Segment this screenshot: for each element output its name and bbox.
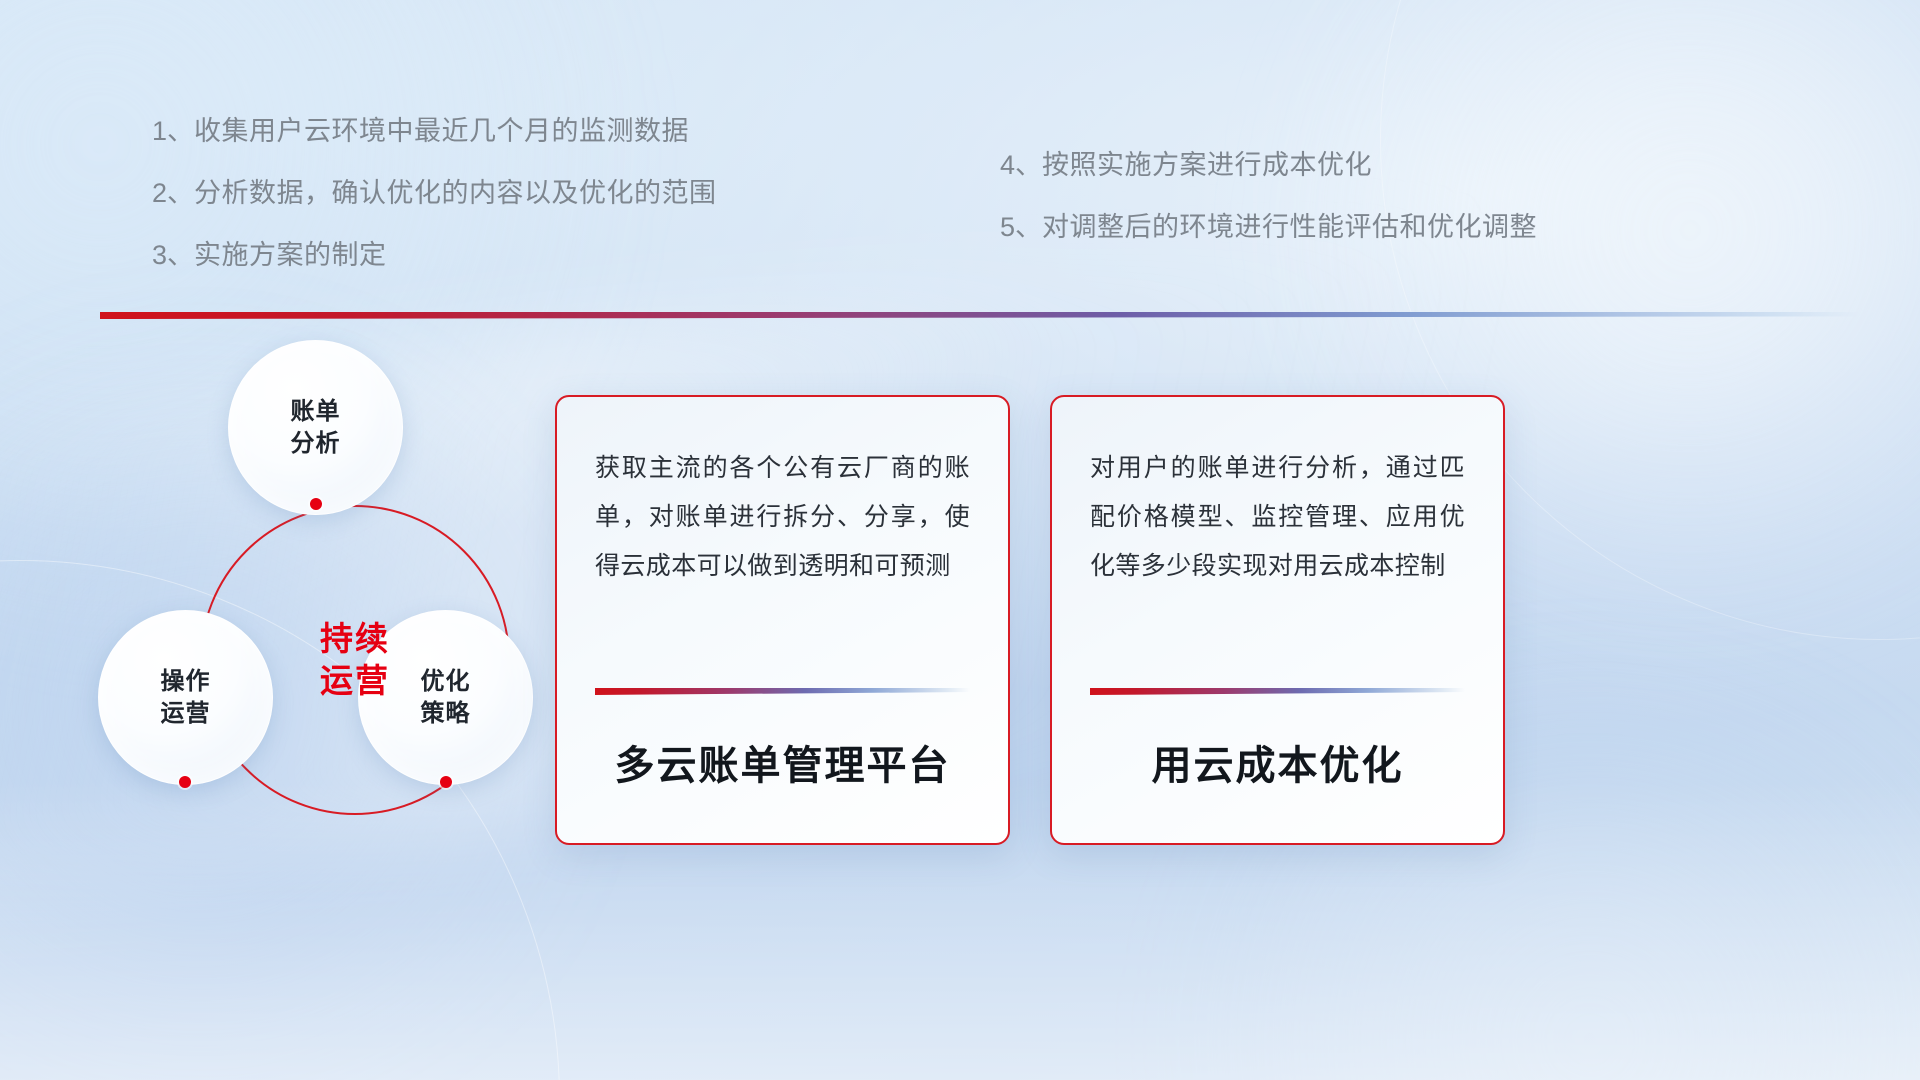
venn-diagram: 账单分析 操作运营 优化策略 持续 运营: [95, 350, 615, 920]
list-item-text: 实施方案的制定: [194, 240, 387, 270]
list-item-text: 按照实施方案进行成本优化: [1042, 150, 1372, 180]
venn-center-line2: 运营: [320, 662, 390, 699]
list-item-number: 4、: [1000, 150, 1042, 180]
venn-connector-dot-top: [310, 498, 322, 510]
list-item: 1、收集用户云环境中最近几个月的监测数据: [152, 118, 717, 145]
card-body-text: 对用户的账单进行分析，通过匹配价格模型、监控管理、应用优化等多少段实现对用云成本…: [1090, 444, 1465, 590]
steps-left-column: 1、收集用户云环境中最近几个月的监测数据 2、分析数据，确认优化的内容以及优化的…: [152, 118, 717, 304]
card-divider-rule: [1090, 688, 1465, 695]
list-item-text: 对调整后的环境进行性能评估和优化调整: [1042, 212, 1537, 242]
list-item: 3、实施方案的制定: [152, 242, 717, 269]
list-item-number: 5、: [1000, 212, 1042, 242]
card-cloud-cost-optimization[interactable]: 对用户的账单进行分析，通过匹配价格模型、监控管理、应用优化等多少段实现对用云成本…: [1050, 395, 1505, 845]
venn-center-line1: 持续: [320, 620, 390, 657]
venn-center-label: 持续 运营: [200, 505, 510, 815]
venn-bubble-billing-analysis[interactable]: 账单分析: [228, 340, 403, 515]
list-item-number: 2、: [152, 178, 194, 208]
steps-right-column: 4、按照实施方案进行成本优化 5、对调整后的环境进行性能评估和优化调整: [1000, 152, 1537, 276]
card-multi-cloud-billing-platform[interactable]: 获取主流的各个公有云厂商的账单，对账单进行拆分、分享，使得云成本可以做到透明和可…: [555, 395, 1010, 845]
list-item-number: 3、: [152, 240, 194, 270]
section-divider-rule: [100, 312, 1860, 319]
list-item-text: 收集用户云环境中最近几个月的监测数据: [194, 116, 689, 146]
list-item: 5、对调整后的环境进行性能评估和优化调整: [1000, 214, 1537, 241]
list-item: 4、按照实施方案进行成本优化: [1000, 152, 1537, 179]
list-item-text: 分析数据，确认优化的内容以及优化的范围: [194, 178, 717, 208]
venn-connector-dot-left: [179, 776, 191, 788]
list-item: 2、分析数据，确认优化的内容以及优化的范围: [152, 180, 717, 207]
list-item-number: 1、: [152, 116, 194, 146]
card-title: 用云成本优化: [1090, 733, 1465, 791]
card-divider-rule: [595, 688, 970, 695]
venn-bubble-label: 账单分析: [291, 396, 341, 459]
card-body-text: 获取主流的各个公有云厂商的账单，对账单进行拆分、分享，使得云成本可以做到透明和可…: [595, 444, 970, 590]
card-title: 多云账单管理平台: [595, 733, 970, 791]
venn-connector-dot-right: [440, 776, 452, 788]
